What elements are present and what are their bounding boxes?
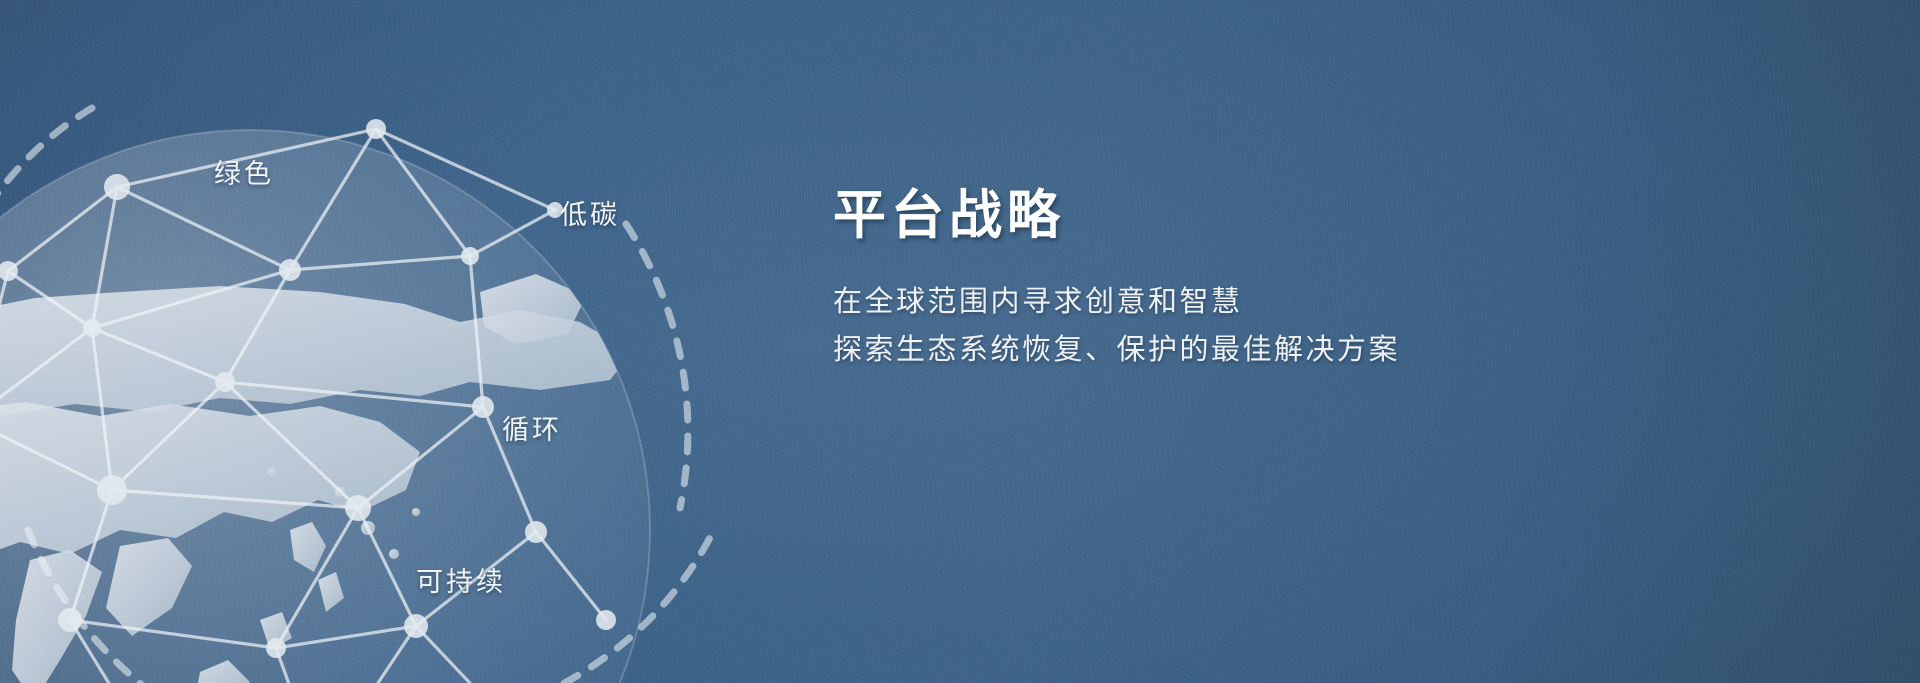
banner-headline: 平台战略 xyxy=(833,186,1593,247)
banner-subline-1: 在全球范围内寻求创意和智慧 xyxy=(833,279,1593,327)
banner-subline-2: 探索生态系统恢复、保护的最佳解决方案 xyxy=(833,327,1593,375)
banner-copy: 平台战略 在全球范围内寻求创意和智慧 探索生态系统恢复、保护的最佳解决方案 xyxy=(833,186,1593,375)
globe-label-green: 绿色 xyxy=(214,152,274,191)
globe-svg xyxy=(0,60,820,683)
globe-graphic xyxy=(0,60,820,683)
hero-banner: 绿色 低碳 循环 可持续 平台战略 在全球范围内寻求创意和智慧 探索生态系统恢复… xyxy=(0,0,1920,683)
globe-label-sustainable: 可持续 xyxy=(416,560,506,599)
globe-label-low-carbon: 低碳 xyxy=(560,193,620,232)
globe-label-circular: 循环 xyxy=(502,408,562,447)
